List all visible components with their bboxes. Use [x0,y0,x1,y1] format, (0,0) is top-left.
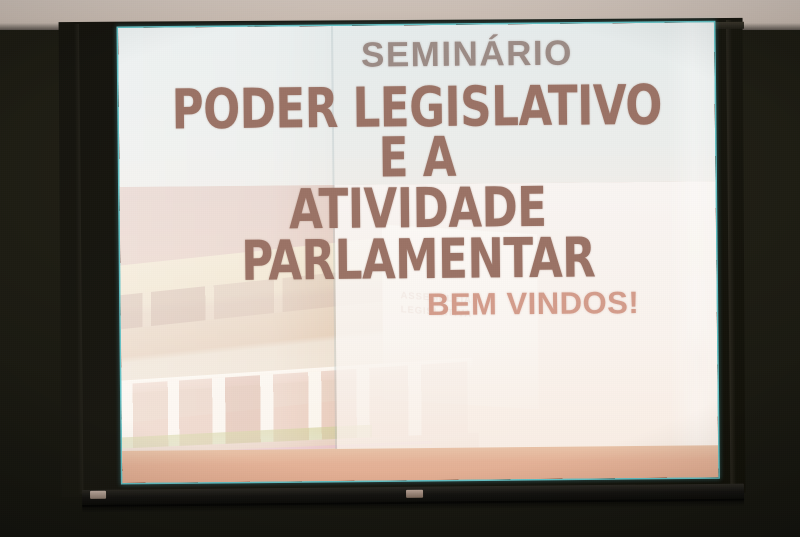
weight-bar-pull-tab[interactable] [406,490,423,498]
slide-background: ASSEMBLÉIA LEGISLATIVA SEMINÁRIO PODER L… [118,22,718,483]
weight-bar-end-label [90,491,106,499]
slide-footer-band [122,445,718,483]
projector-band-right [666,22,718,477]
projection-screen-photo: ASSEMBLÉIA LEGISLATIVA SEMINÁRIO PODER L… [0,0,800,537]
projector-band-left [118,26,337,483]
projected-slide: ASSEMBLÉIA LEGISLATIVA SEMINÁRIO PODER L… [118,22,718,483]
